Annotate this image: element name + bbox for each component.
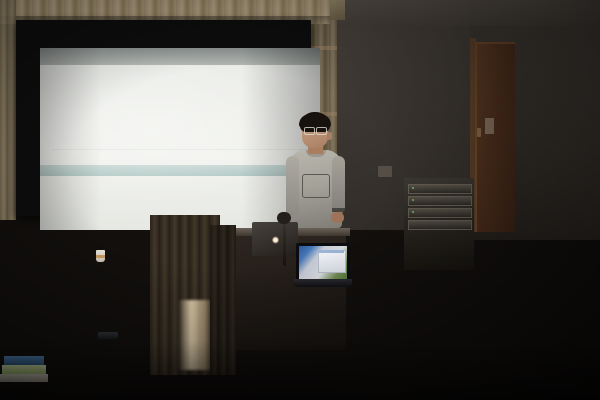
laptop-window (318, 250, 346, 273)
timeline-accent-band (40, 165, 320, 176)
ceiling-shadow (330, 0, 600, 26)
secondary-laptop-base (294, 279, 352, 287)
laptop-window-titlebar (318, 250, 344, 253)
microphone-stand (283, 218, 286, 266)
daylight-gap-glow (178, 300, 214, 370)
left-curtain (0, 0, 16, 220)
projection-screen (40, 48, 320, 230)
rack-status-led (412, 199, 414, 201)
coffee-cup-sleeve (96, 255, 105, 258)
presenter-right-arm (332, 156, 345, 214)
presenter-hair-front (299, 114, 331, 127)
classroom-presentation-photo (0, 0, 600, 400)
rack-unit (408, 184, 472, 194)
presenter-hand (331, 212, 344, 223)
stacked-notebook (0, 374, 48, 382)
screen-top-shadow (40, 48, 320, 65)
rack-unit (408, 208, 472, 218)
rack-status-led (412, 187, 414, 189)
eyeglasses-left-lens-icon (304, 127, 315, 135)
rack-status-led (412, 211, 414, 213)
apple-logo-icon (272, 236, 279, 244)
tshirt-logo-outline (302, 174, 330, 198)
door-knob-icon (477, 128, 481, 137)
wooden-door (475, 42, 515, 232)
projection-screen-frame (16, 20, 311, 216)
stacked-notebook (4, 356, 44, 365)
rack-unit (408, 220, 472, 230)
presentation-slide (40, 65, 320, 230)
career-timeline-bar (52, 140, 308, 149)
stacked-notebook (2, 365, 46, 374)
presenter-ear (327, 132, 332, 140)
door-sign (485, 118, 494, 134)
wall-outlet (378, 166, 392, 177)
eyeglasses-right-lens-icon (316, 127, 327, 135)
foreground-curtain-right (210, 225, 236, 375)
smartphone-on-desk (98, 332, 118, 339)
microphone-head-icon (277, 212, 291, 224)
presenter-left-arm (286, 156, 299, 218)
career-timeline-dates (52, 150, 308, 159)
rack-unit (408, 196, 472, 206)
